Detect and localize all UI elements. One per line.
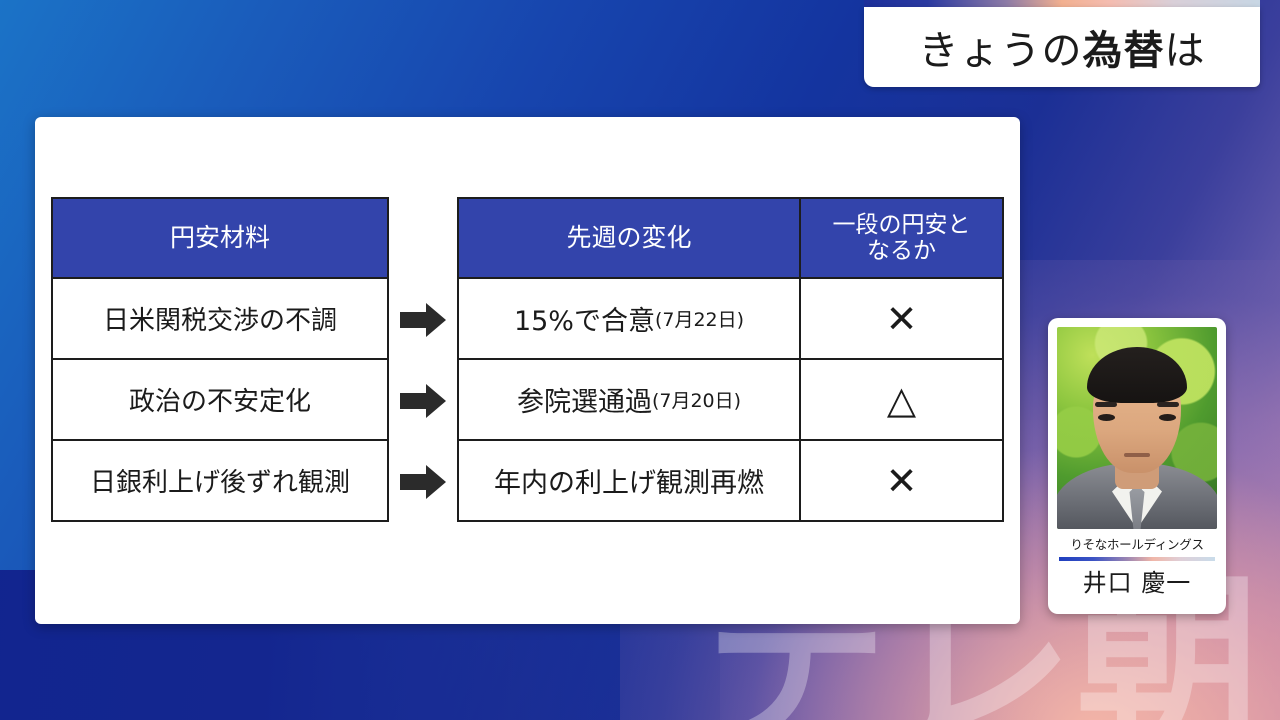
cell-cause: 日米関税交渉の不調	[103, 300, 337, 337]
table-row: ✕	[800, 441, 1004, 522]
cell-change-date: (7月20日)	[652, 386, 741, 413]
table-row: ✕	[800, 279, 1004, 360]
header-cause: 円安材料	[51, 197, 389, 279]
factors-table: 円安材料 日米関税交渉の不調 政治の不安定化 日銀利上げ後ずれ観測	[51, 197, 1004, 522]
table-row: △	[800, 360, 1004, 441]
banner-title-emphasis: 為替	[1083, 28, 1165, 74]
table-column-cause: 円安材料 日米関税交渉の不調 政治の不安定化 日銀利上げ後ずれ観測	[51, 197, 389, 522]
main-panel: 円安材料 日米関税交渉の不調 政治の不安定化 日銀利上げ後ずれ観測	[35, 117, 1020, 624]
photo-eyebrow-right	[1157, 402, 1179, 407]
banner-accent-strip	[864, 0, 1260, 7]
table-right-block: 先週の変化 15%で合意(7月22日) 参院選通過(7月20日) 年内の利上げ観…	[457, 197, 1004, 522]
analyst-company: りそなホールディングス	[1057, 534, 1217, 553]
cell-change-date: (7月22日)	[655, 305, 744, 332]
analyst-card: りそなホールディングス 井口 慶一	[1048, 318, 1226, 614]
table-column-change: 先週の変化 15%で合意(7月22日) 参院選通過(7月20日) 年内の利上げ観…	[457, 197, 800, 522]
cell-cause: 政治の不安定化	[129, 381, 311, 418]
right-arrow-icon	[400, 384, 446, 418]
arrow-slot	[389, 441, 457, 522]
banner-title-suffix: は	[1165, 28, 1206, 74]
right-arrow-icon	[400, 303, 446, 337]
banner-body: きょうの為替は	[864, 7, 1260, 87]
photo-eyebrow-left	[1095, 402, 1117, 407]
photo-mouth	[1124, 453, 1150, 457]
table-row: 日米関税交渉の不調	[51, 279, 389, 360]
cell-change-label: 年内の利上げ観測再燃	[494, 461, 764, 500]
cell-change-label: 参院選通過	[517, 380, 652, 419]
banner-title-prefix: きょうの	[919, 28, 1083, 74]
cell-cause: 日銀利上げ後ずれ観測	[90, 462, 350, 499]
analyst-photo	[1057, 327, 1217, 529]
table-column-outlook: 一段の円安となるか ✕ △ ✕	[800, 197, 1004, 522]
table-row: 15%で合意(7月22日)	[457, 279, 800, 360]
outlook-mark: ✕	[886, 300, 918, 338]
cell-change-label: 15%で合意	[514, 299, 655, 338]
arrow-slot	[389, 360, 457, 441]
arrow-header-spacer	[389, 197, 457, 279]
analyst-name: 井口 慶一	[1057, 563, 1217, 598]
right-arrow-icon	[400, 465, 446, 499]
outlook-mark: ✕	[886, 462, 918, 500]
table-row: 年内の利上げ観測再燃	[457, 441, 800, 522]
header-outlook-text: 一段の円安となるか	[833, 212, 971, 265]
header-outlook: 一段の円安となるか	[800, 197, 1004, 279]
banner-title: きょうの為替は	[919, 18, 1206, 76]
table-row: 政治の不安定化	[51, 360, 389, 441]
table-row: 日銀利上げ後ずれ観測	[51, 441, 389, 522]
broadcast-graphic-stage: テレ朝 きょうの為替は 円安材料 日米関税交渉の不調 政治の不安定化 日銀利上げ…	[0, 0, 1280, 720]
title-banner: きょうの為替は	[864, 0, 1260, 94]
header-change: 先週の変化	[457, 197, 800, 279]
arrow-slot	[389, 279, 457, 360]
analyst-divider	[1059, 557, 1215, 561]
table-row: 参院選通過(7月20日)	[457, 360, 800, 441]
table-column-arrows	[389, 197, 457, 522]
outlook-mark: △	[887, 381, 916, 419]
photo-eye-right	[1159, 414, 1176, 421]
photo-eye-left	[1098, 414, 1115, 421]
